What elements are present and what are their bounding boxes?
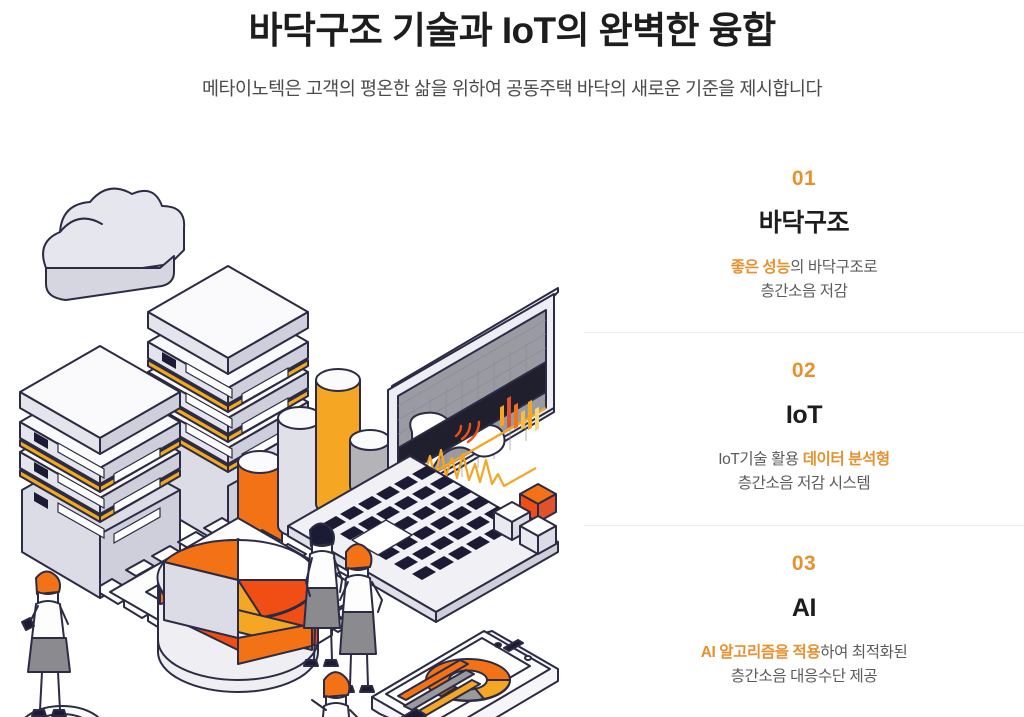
isometric-illustration: .ol{stroke:#2b2b45;stroke-width:2;stroke… (0, 140, 584, 717)
person-woman (22, 571, 70, 716)
card-description-rest: 의 바닥구조로 (790, 259, 877, 276)
card-description-line-1: AI 알고리즘을 적용하여 최적화된 (701, 641, 908, 665)
card-title: AI (792, 596, 816, 621)
illustration-column: .ol{stroke:#2b2b45;stroke-width:2;stroke… (0, 140, 584, 717)
card-description-highlight: 좋은 성능 (731, 259, 790, 276)
cloud-icon (43, 189, 184, 300)
card-title: 바닥구조 (759, 211, 849, 236)
card-description-line-1: 좋은 성능의 바닥구조로 (731, 256, 877, 280)
card-description: 좋은 성능의 바닥구조로 층간소음 저감 (731, 256, 877, 304)
card-number: 03 (792, 553, 816, 574)
card-description-rest: 하여 최적화된 (820, 644, 907, 661)
person-man-3 (312, 672, 362, 717)
card-description-highlight: 데이터 분석형 (803, 451, 890, 468)
smartphone-with-donut-chart (372, 631, 558, 717)
content-area: .ol{stroke:#2b2b45;stroke-width:2;stroke… (0, 140, 1024, 717)
feature-card-02[interactable]: 02 IoT IoT기술 활용 데이터 분석형 층간소음 저감 시스템 (584, 332, 1024, 524)
page-subtitle: 메타이노텍은 고객의 평온한 삶을 위하여 공동주택 바닥의 새로운 기준을 제… (0, 76, 1024, 102)
page-header: 바닥구조 기술과 IoT의 완벽한 융합 메타이노텍은 고객의 평온한 삶을 위… (0, 0, 1024, 102)
feature-card-03[interactable]: 03 AI AI 알고리즘을 적용하여 최적화된 층간소음 대응수단 제공 (584, 525, 1024, 717)
feature-card-01[interactable]: 01 바닥구조 좋은 성능의 바닥구조로 층간소음 저감 (584, 140, 1024, 332)
card-description-line-2: 층간소음 저감 (731, 280, 877, 304)
feature-cards-column: 01 바닥구조 좋은 성능의 바닥구조로 층간소음 저감 02 IoT IoT기… (584, 140, 1024, 717)
server-rack-left (20, 346, 180, 598)
landing-page: 바닥구조 기술과 IoT의 완벽한 융합 메타이노텍은 고객의 평온한 삶을 위… (0, 0, 1024, 717)
card-description-line-2: 층간소음 저감 시스템 (718, 472, 890, 496)
card-number: 02 (792, 360, 816, 381)
card-description-line-2: 층간소음 대응수단 제공 (701, 665, 908, 689)
card-description: AI 알고리즘을 적용하여 최적화된 층간소음 대응수단 제공 (701, 641, 908, 689)
card-description-line-1: IoT기술 활용 데이터 분석형 (718, 448, 890, 472)
card-description-plain: IoT기술 활용 (718, 451, 802, 468)
pie-cylinder-chart (157, 540, 318, 692)
card-description-highlight: AI 알고리즘을 적용 (701, 644, 821, 661)
card-description: IoT기술 활용 데이터 분석형 층간소음 저감 시스템 (718, 448, 890, 496)
card-title: IoT (786, 403, 822, 428)
page-title: 바닥구조 기술과 IoT의 완벽한 융합 (0, 8, 1024, 54)
card-number: 01 (792, 168, 816, 189)
